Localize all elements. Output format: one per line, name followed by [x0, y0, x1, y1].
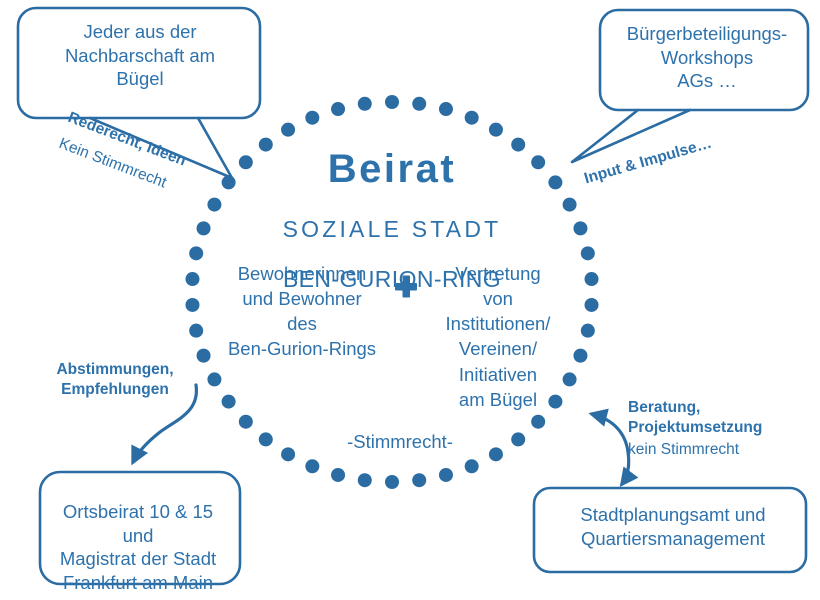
arrow-label-kein-stimmrecht: kein Stimmrecht: [628, 440, 810, 460]
ring-dot: [531, 415, 545, 429]
ring-dot: [585, 298, 599, 312]
ring-dot: [412, 97, 426, 111]
ring-dot: [511, 432, 525, 446]
page-title: Beirat: [242, 148, 542, 191]
ring-dot: [465, 459, 479, 473]
ring-voting-note: -Stimmrecht-: [300, 430, 500, 454]
speech-bubble-top-left-text: Jeder aus der Nachbarschaft am Bügel: [38, 20, 242, 91]
ring-dot: [581, 246, 595, 260]
arrow-stadtplanungsamt-bidirectional: [592, 414, 629, 484]
ring-dot: [439, 468, 453, 482]
box-bottom-left-text: Ortsbeirat 10 & 15 und Magistrat der Sta…: [34, 500, 242, 595]
ring-dot: [185, 298, 199, 312]
ring-dot: [185, 272, 199, 286]
ring-dot: [305, 459, 319, 473]
ring-dot: [259, 432, 273, 446]
ring-dot: [305, 111, 319, 125]
ring-dot: [573, 349, 587, 363]
ring-dot: [465, 111, 479, 125]
ring-dot: [385, 475, 399, 489]
speech-bubble-top-right-text: Bürgerbeteiligungs- Workshops AGs …: [606, 22, 808, 93]
ring-dot: [385, 95, 399, 109]
box-bottom-right-text: Stadtplanungsamt und Quartiersmanagement: [534, 503, 812, 550]
ring-dot: [412, 473, 426, 487]
ring-dot: [331, 468, 345, 482]
ring-dot: [585, 272, 599, 286]
ring-members-residents: Bewohnerinnen und Bewohner des Ben-Gurio…: [212, 261, 392, 362]
ring-dot: [281, 447, 295, 461]
ring-dot: [548, 175, 562, 189]
ring-dot: [197, 221, 211, 235]
ring-dot: [331, 102, 345, 116]
ring-dot: [207, 198, 221, 212]
ring-dot: [563, 198, 577, 212]
ring-dot: [189, 246, 203, 260]
page-subtitle-1: SOZIALE STADT: [242, 214, 542, 244]
ring-dot: [358, 473, 372, 487]
ring-dot: [581, 324, 595, 338]
ring-dot: [207, 372, 221, 386]
ring-dot: [439, 102, 453, 116]
ring-dot: [222, 395, 236, 409]
arrow-label-abstimmungen-empfehlungen: Abstimmungen, Empfehlungen: [30, 360, 200, 401]
arrow-label-beratung-projektumsetzung: Beratung, Projektumsetzung: [628, 398, 810, 439]
ring-dot: [239, 415, 253, 429]
ring-dot: [189, 324, 203, 338]
diagram-canvas: Jeder aus der Nachbarschaft am Bügel Red…: [0, 0, 820, 600]
ring-members-institutions: Vertretung von Institutionen/ Vereinen/ …: [424, 261, 572, 412]
ring-dot: [573, 221, 587, 235]
ring-dot: [358, 97, 372, 111]
